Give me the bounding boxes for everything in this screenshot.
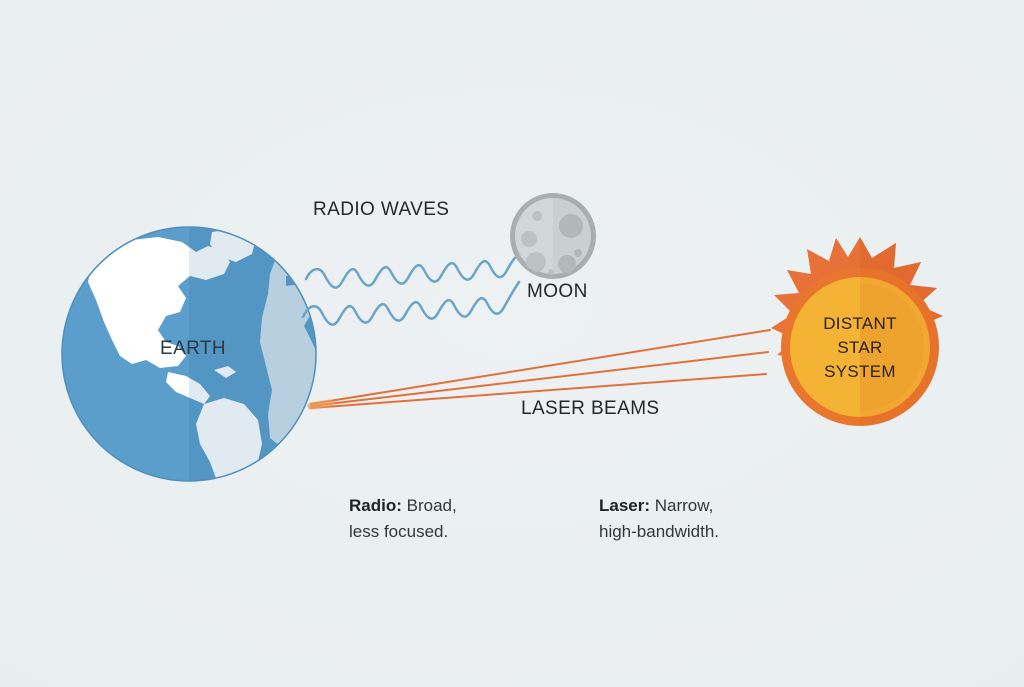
distant-star-label: DISTANT STAR SYSTEM	[790, 312, 930, 384]
laser-beam-glow	[311, 403, 330, 406]
moon-label: MOON	[527, 281, 588, 303]
earth-label: EARTH	[160, 338, 226, 360]
radio-caption-text: Broad,	[402, 496, 457, 515]
laser-caption-key: Laser:	[599, 496, 650, 515]
radio-caption-key: Radio:	[349, 496, 402, 515]
radio-caption-line-1: Radio: Broad,	[349, 493, 457, 519]
star-label-line-3: SYSTEM	[790, 360, 930, 384]
laser-beams-label: LASER BEAMS	[521, 398, 660, 420]
laser-beam-1	[311, 330, 770, 404]
radio-wave-signal	[303, 254, 519, 325]
laser-caption-line-1: Laser: Narrow,	[599, 493, 719, 519]
radio-caption: Radio: Broad, less focused.	[349, 493, 457, 545]
radio-waves-label: RADIO WAVES	[313, 199, 449, 221]
diagram-canvas: EARTH RADIO WAVES MOON LASER BEAMS DISTA…	[0, 0, 1024, 687]
laser-caption-line-2: high-bandwidth.	[599, 519, 719, 545]
earth-globe	[62, 220, 356, 512]
radio-wave-upper	[306, 254, 519, 288]
star-label-line-1: DISTANT	[790, 312, 930, 336]
moon-body	[510, 193, 596, 279]
laser-caption: Laser: Narrow, high-bandwidth.	[599, 493, 719, 545]
laser-beam-signal	[311, 330, 770, 408]
laser-caption-text: Narrow,	[650, 496, 713, 515]
radio-caption-line-2: less focused.	[349, 519, 457, 545]
star-label-line-2: STAR	[790, 336, 930, 360]
